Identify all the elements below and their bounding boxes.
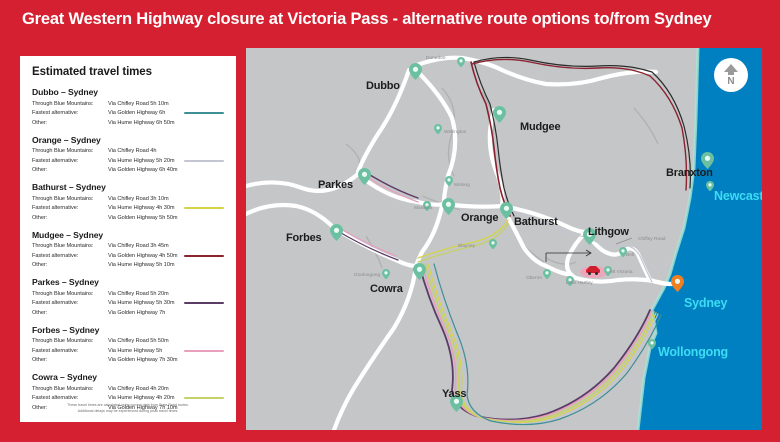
route-block: Mudgee – SydneyThrough Blue Mountains:Vi… bbox=[32, 230, 224, 271]
panel-footnote: These travel times are calculated using … bbox=[32, 403, 224, 414]
route-row-label: Other: bbox=[32, 357, 108, 363]
route-row-label: Through Blue Mountains: bbox=[32, 386, 108, 392]
route-row-blue-mountains: Through Blue Mountains:Via Chifley Road … bbox=[32, 147, 224, 157]
map-pin-parkes[interactable] bbox=[358, 168, 371, 185]
panel-title: Estimated travel times bbox=[32, 66, 224, 78]
route-row-blue-mountains: Through Blue Mountains:Via Chifley Road … bbox=[32, 99, 224, 109]
route-name: Forbes – Sydney bbox=[32, 325, 224, 335]
map-canvas[interactable]: DubboMudgeeParkesOrangeBathurstLithgowFo… bbox=[246, 48, 762, 430]
route-row-blue-mountains: Through Blue Mountains:Via Chifley Road … bbox=[32, 194, 224, 204]
route-name: Parkes – Sydney bbox=[32, 277, 224, 287]
route-row-other: Other:Via Hume Highway 5h 10m bbox=[32, 261, 224, 271]
route-block: Parkes – SydneyThrough Blue Mountains:Vi… bbox=[32, 277, 224, 318]
route-color-swatch bbox=[184, 350, 224, 352]
route-name: Mudgee – Sydney bbox=[32, 230, 224, 240]
route-row-label: Through Blue Mountains: bbox=[32, 338, 108, 344]
map-label-gooloogong: Gooloogong bbox=[354, 273, 380, 278]
map-label-newcastle: Newcastle bbox=[714, 189, 762, 203]
route-row-other: Other:Via Golden Highway 7h bbox=[32, 308, 224, 318]
route-row-blue-mountains: Through Blue Mountains:Via Chifley Road … bbox=[32, 384, 224, 394]
route-row-label: Fastest alternative: bbox=[32, 253, 108, 259]
route-row-value: Via Hume Highway 6h 50m bbox=[108, 120, 224, 126]
map-pin-blayney[interactable] bbox=[489, 236, 497, 247]
route-row-fastest: Fastest alternative:Via Hume Highway 5h … bbox=[32, 156, 224, 166]
map-pin-bathurst[interactable] bbox=[500, 202, 513, 219]
route-row-label: Fastest alternative: bbox=[32, 205, 108, 211]
map-label-oberon: Oberon bbox=[526, 276, 542, 281]
header-bar: Great Western Highway closure at Victori… bbox=[0, 0, 780, 38]
map-pin-dunedoo[interactable] bbox=[457, 54, 465, 65]
route-row-value: Via Chifley Road 5h 10m bbox=[108, 101, 224, 107]
footnote-line-2: Additional delays may be experienced dur… bbox=[32, 409, 224, 414]
route-row-value: Via Chifley Road 4h 20m bbox=[108, 386, 224, 392]
route-row-fastest: Fastest alternative:Via Golden Highway 6… bbox=[32, 109, 224, 119]
route-block: Orange – SydneyThrough Blue Mountains:Vi… bbox=[32, 135, 224, 176]
map-label-bathurst: Bathurst bbox=[514, 216, 558, 228]
map-label-blayney: Blayney bbox=[458, 244, 475, 249]
map-label-lithgow: Lithgow bbox=[588, 226, 629, 238]
route-block: Bathurst – SydneyThrough Blue Mountains:… bbox=[32, 182, 224, 223]
route-row-value: Via Chifley Road 3h 10m bbox=[108, 196, 224, 202]
route-row-fastest: Fastest alternative:Via Hume Highway 4h … bbox=[32, 204, 224, 214]
map-label-chifley-road: Chifley Road bbox=[638, 237, 665, 242]
route-name: Bathurst – Sydney bbox=[32, 182, 224, 192]
route-row-blue-mountains: Through Blue Mountains:Via Chifley Road … bbox=[32, 289, 224, 299]
route-row-value: Via Golden Highway 5h 50m bbox=[108, 215, 224, 221]
route-row-blue-mountains: Through Blue Mountains:Via Chifley Road … bbox=[32, 337, 224, 347]
route-row-fastest: Fastest alternative:Via Hume Highway 4h … bbox=[32, 394, 224, 404]
route-row-label: Other: bbox=[32, 167, 108, 173]
route-row-fastest: Fastest alternative:Via Hume Highway 5h bbox=[32, 346, 224, 356]
map-label-wellington: Wellington bbox=[444, 130, 466, 135]
map-pin-dubbo[interactable] bbox=[409, 63, 422, 80]
map-pin-orange[interactable] bbox=[442, 198, 455, 215]
route-row-label: Other: bbox=[32, 262, 108, 268]
route-name: Cowra – Sydney bbox=[32, 372, 224, 382]
map-label-dubbo: Dubbo bbox=[366, 80, 400, 92]
map-pin-gooloogong[interactable] bbox=[382, 266, 390, 277]
route-row-other: Other:Via Golden Highway 5h 50m bbox=[32, 213, 224, 223]
map-label-bell: Bell bbox=[626, 253, 634, 258]
route-row-value: Via Chifley Road 4h bbox=[108, 148, 224, 154]
map-pin-newcastle[interactable] bbox=[706, 178, 714, 189]
route-row-label: Through Blue Mountains: bbox=[32, 196, 108, 202]
map-label-parkes: Parkes bbox=[318, 179, 353, 191]
route-row-value: Via Golden Highway 7h bbox=[108, 310, 224, 316]
route-list: Dubbo – SydneyThrough Blue Mountains:Via… bbox=[32, 87, 224, 413]
route-color-swatch bbox=[184, 397, 224, 399]
map-label-mudgee: Mudgee bbox=[520, 121, 560, 133]
route-row-label: Fastest alternative: bbox=[32, 300, 108, 306]
route-row-other: Other:Via Golden Highway 6h 40m bbox=[32, 166, 224, 176]
map-pin-wellington[interactable] bbox=[434, 121, 442, 132]
route-color-swatch bbox=[184, 207, 224, 209]
route-row-label: Through Blue Mountains: bbox=[32, 148, 108, 154]
route-row-other: Other:Via Hume Highway 6h 50m bbox=[32, 118, 224, 128]
compass-north-label: N bbox=[727, 77, 734, 87]
map-pin-wollongong[interactable] bbox=[648, 336, 656, 347]
infographic-root: Great Western Highway closure at Victori… bbox=[0, 0, 780, 442]
route-color-swatch bbox=[184, 112, 224, 114]
map-pin-forbes[interactable] bbox=[330, 224, 343, 241]
route-row-value: Via Chifley Road 3h 45m bbox=[108, 243, 224, 249]
map-pin-sydney[interactable] bbox=[671, 275, 684, 292]
route-row-value: Via Chifley Road 5h 20m bbox=[108, 291, 224, 297]
route-row-fastest: Fastest alternative:Via Hume Highway 5h … bbox=[32, 299, 224, 309]
route-row-other: Other:Via Golden Highway 7h 30m bbox=[32, 356, 224, 366]
route-row-blue-mountains: Through Blue Mountains:Via Chifley Road … bbox=[32, 242, 224, 252]
map-label-orange: Orange bbox=[461, 212, 498, 224]
route-row-label: Fastest alternative: bbox=[32, 395, 108, 401]
route-row-label: Fastest alternative: bbox=[32, 110, 108, 116]
route-row-fastest: Fastest alternative:Via Golden Highway 4… bbox=[32, 251, 224, 261]
map-label-forbes: Forbes bbox=[286, 232, 321, 244]
route-row-label: Other: bbox=[32, 215, 108, 221]
map-pin-mudgee[interactable] bbox=[493, 106, 506, 123]
compass-rose: N bbox=[714, 58, 748, 92]
route-color-swatch bbox=[184, 302, 224, 304]
route-color-swatch bbox=[184, 255, 224, 257]
travel-times-panel: Estimated travel times Dubbo – SydneyThr… bbox=[20, 56, 236, 422]
page-title: Great Western Highway closure at Victori… bbox=[0, 10, 711, 29]
route-color-swatch bbox=[184, 160, 224, 162]
map-label-little-hartley: Little Hartley bbox=[566, 281, 593, 286]
map-label-wollongong: Wollongong bbox=[658, 345, 728, 359]
map-pin-molong[interactable] bbox=[445, 173, 453, 184]
map-pin-oberon[interactable] bbox=[543, 266, 551, 277]
map-label-mt-victoria: Mt Victoria bbox=[610, 270, 633, 275]
map-label-cowra: Cowra bbox=[370, 283, 403, 295]
north-arrow-icon bbox=[723, 64, 739, 76]
map-label-sydney: Sydney bbox=[684, 296, 727, 310]
route-row-label: Fastest alternative: bbox=[32, 158, 108, 164]
map-pin-cowra[interactable] bbox=[413, 263, 426, 280]
route-name: Orange – Sydney bbox=[32, 135, 224, 145]
route-row-label: Fastest alternative: bbox=[32, 348, 108, 354]
route-row-value: Via Golden Highway 6h 40m bbox=[108, 167, 224, 173]
route-row-label: Through Blue Mountains: bbox=[32, 101, 108, 107]
route-row-label: Through Blue Mountains: bbox=[32, 243, 108, 249]
route-row-value: Via Hume Highway 5h 10m bbox=[108, 262, 224, 268]
route-name: Dubbo – Sydney bbox=[32, 87, 224, 97]
route-row-value: Via Chifley Road 5h 50m bbox=[108, 338, 224, 344]
map-label-manildra: Manildra bbox=[414, 206, 432, 211]
route-row-label: Through Blue Mountains: bbox=[32, 291, 108, 297]
route-row-label: Other: bbox=[32, 310, 108, 316]
route-row-label: Other: bbox=[32, 120, 108, 126]
map-label-molong: Molong bbox=[454, 183, 470, 188]
map-label-dunedoo: Dunedoo bbox=[426, 56, 445, 61]
route-row-value: Via Golden Highway 7h 30m bbox=[108, 357, 224, 363]
route-block: Dubbo – SydneyThrough Blue Mountains:Via… bbox=[32, 87, 224, 128]
route-block: Forbes – SydneyThrough Blue Mountains:Vi… bbox=[32, 325, 224, 366]
map-label-yass: Yass bbox=[442, 388, 466, 400]
